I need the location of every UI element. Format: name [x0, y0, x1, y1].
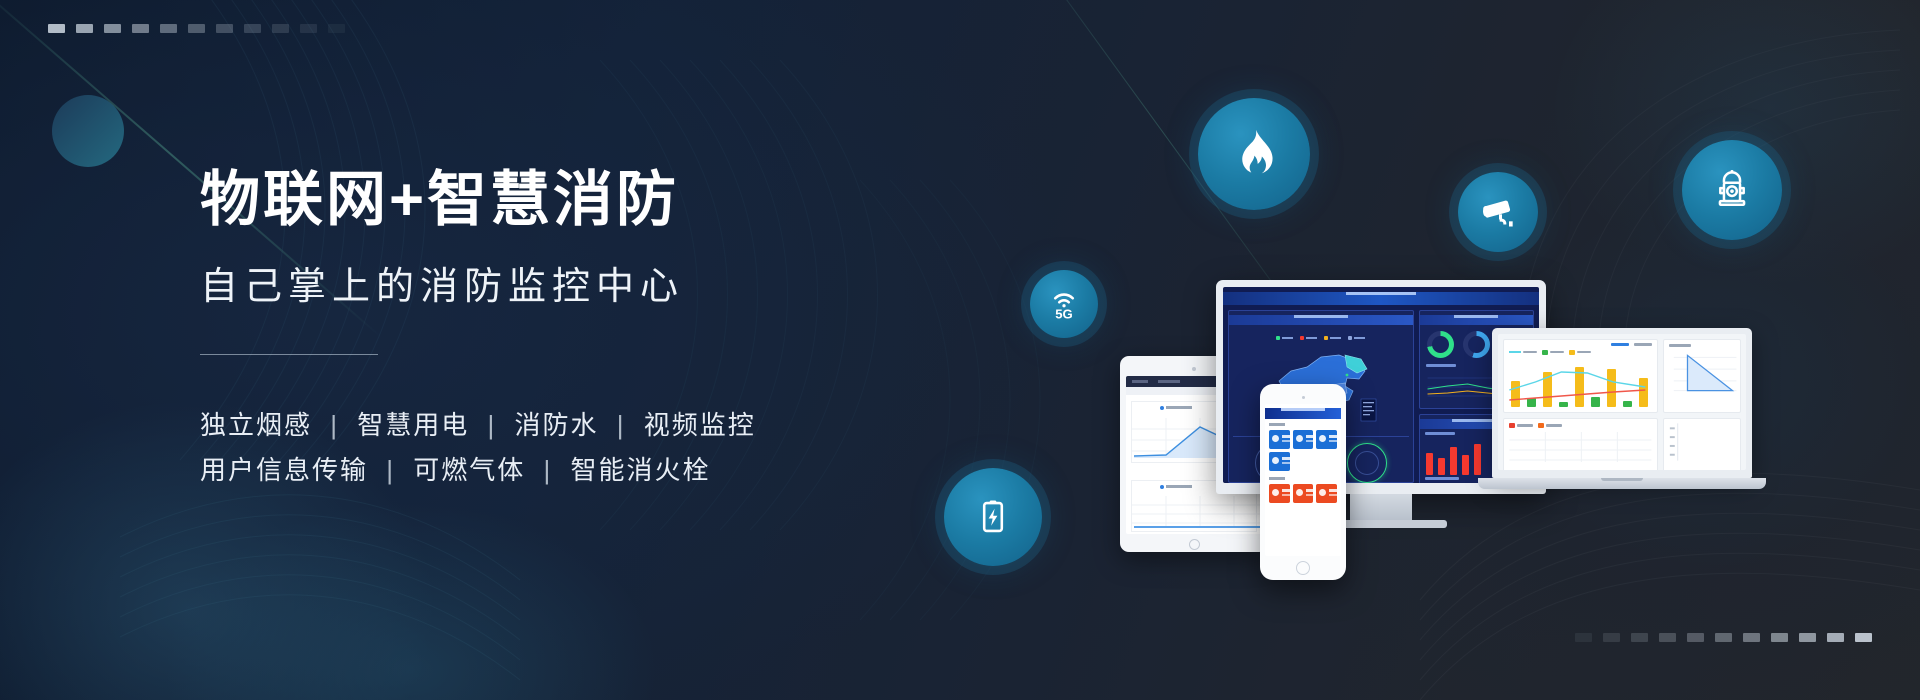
laptop-chart-legend [1504, 346, 1657, 357]
feature-list: 独立烟感 | 智慧用电 | 消防水 | 视频监控 用户信息传输 | 可燃气体 |… [200, 403, 960, 492]
phone-tile[interactable] [1316, 430, 1337, 449]
laptop-lid [1492, 328, 1752, 478]
feature-item: 可燃气体 [413, 455, 525, 485]
phone-camera-dot [1302, 396, 1305, 399]
map-legend [1229, 334, 1413, 343]
phone-home-button[interactable] [1296, 561, 1310, 575]
phone-tile-grid-blue [1265, 430, 1341, 471]
phone-section-label-2 [1269, 477, 1337, 482]
mobile-phone [1260, 384, 1346, 580]
kpi-row [1229, 325, 1413, 334]
dashboard-title-bar [1223, 292, 1539, 305]
feature-item: 用户信息传输 [200, 455, 368, 485]
cctv-camera-icon [1478, 192, 1518, 232]
laptop-table-card [1503, 418, 1658, 470]
feature-line-2: 用户信息传输 | 可燃气体 | 智能消火栓 [200, 448, 960, 493]
phone-section-label-1 [1269, 423, 1337, 428]
laptop-decline-chart [1664, 347, 1740, 399]
battery-bolt-icon-bubble [944, 468, 1042, 566]
laptop-chart-card-main [1503, 339, 1658, 413]
page-subtitle: 自己掌上的消防监控中心 [200, 255, 960, 310]
phone-tile[interactable] [1293, 484, 1314, 503]
phone-screen [1265, 404, 1341, 556]
hero-banner: 物联网+智慧消防 自己掌上的消防监控中心 独立烟感 | 智慧用电 | 消防水 |… [0, 0, 1920, 700]
decorative-dash-row-bottom-right [1575, 633, 1872, 642]
panel-header [1229, 315, 1413, 325]
feature-separator: | [608, 410, 635, 440]
cctv-camera-icon-bubble [1458, 172, 1538, 252]
feature-item: 智慧用电 [357, 410, 469, 440]
feature-item: 独立烟感 [200, 410, 312, 440]
feature-item: 智能消火栓 [571, 455, 711, 485]
phone-tile-grid-orange [1265, 484, 1341, 503]
feature-separator: | [321, 410, 348, 440]
laptop-screen [1498, 334, 1746, 470]
battery-bolt-icon [971, 495, 1015, 539]
feature-item: 视频监控 [644, 410, 756, 440]
phone-tile[interactable] [1316, 484, 1337, 503]
flame-icon [1227, 127, 1281, 181]
feature-separator: | [535, 455, 562, 485]
feature-line-1: 独立烟感 | 智慧用电 | 消防水 | 视频监控 [200, 403, 960, 448]
feature-separator: | [377, 455, 404, 485]
gauge-1 [1427, 331, 1454, 358]
panel-header [1420, 315, 1533, 325]
laptop-trackpad-notch [1601, 478, 1643, 481]
fire-hydrant-icon [1709, 167, 1755, 213]
title-divider [200, 354, 378, 355]
monitor-stand [1350, 494, 1412, 520]
decorative-dash-row-top-left [48, 24, 345, 33]
5g-signal-icon-bubble: 5G [1030, 270, 1098, 338]
phone-tile[interactable] [1269, 430, 1290, 449]
feature-separator: | [479, 410, 506, 440]
5g-signal-icon: 5G [1044, 284, 1084, 324]
feature-item: 消防水 [515, 410, 599, 440]
page-title: 物联网+智慧消防 [200, 168, 960, 233]
phone-tile[interactable] [1269, 484, 1290, 503]
laptop-chart-card-side [1663, 339, 1741, 413]
gauge-2 [1463, 331, 1490, 358]
tablet-camera-dot [1192, 367, 1196, 371]
laptop-axis-chart [1664, 419, 1740, 467]
phone-tile[interactable] [1293, 430, 1314, 449]
device-mockup-cluster [1120, 280, 1800, 580]
laptop-table-legend [1504, 419, 1657, 430]
laptop-base [1478, 478, 1766, 489]
phone-tile[interactable] [1269, 452, 1290, 471]
laptop-device [1492, 328, 1752, 489]
hero-copy: 物联网+智慧消防 自己掌上的消防监控中心 独立烟感 | 智慧用电 | 消防水 |… [200, 168, 960, 492]
laptop-bar-chart [1504, 357, 1657, 407]
fire-hydrant-icon-bubble [1682, 140, 1782, 240]
svg-text:5G: 5G [1055, 307, 1073, 322]
flame-icon-bubble [1198, 98, 1310, 210]
laptop-table-grid [1504, 430, 1657, 464]
phone-app-header [1265, 408, 1341, 419]
laptop-overlay-lines [1504, 360, 1657, 410]
tablet-home-button[interactable] [1189, 539, 1200, 550]
laptop-axis-card [1663, 418, 1741, 470]
